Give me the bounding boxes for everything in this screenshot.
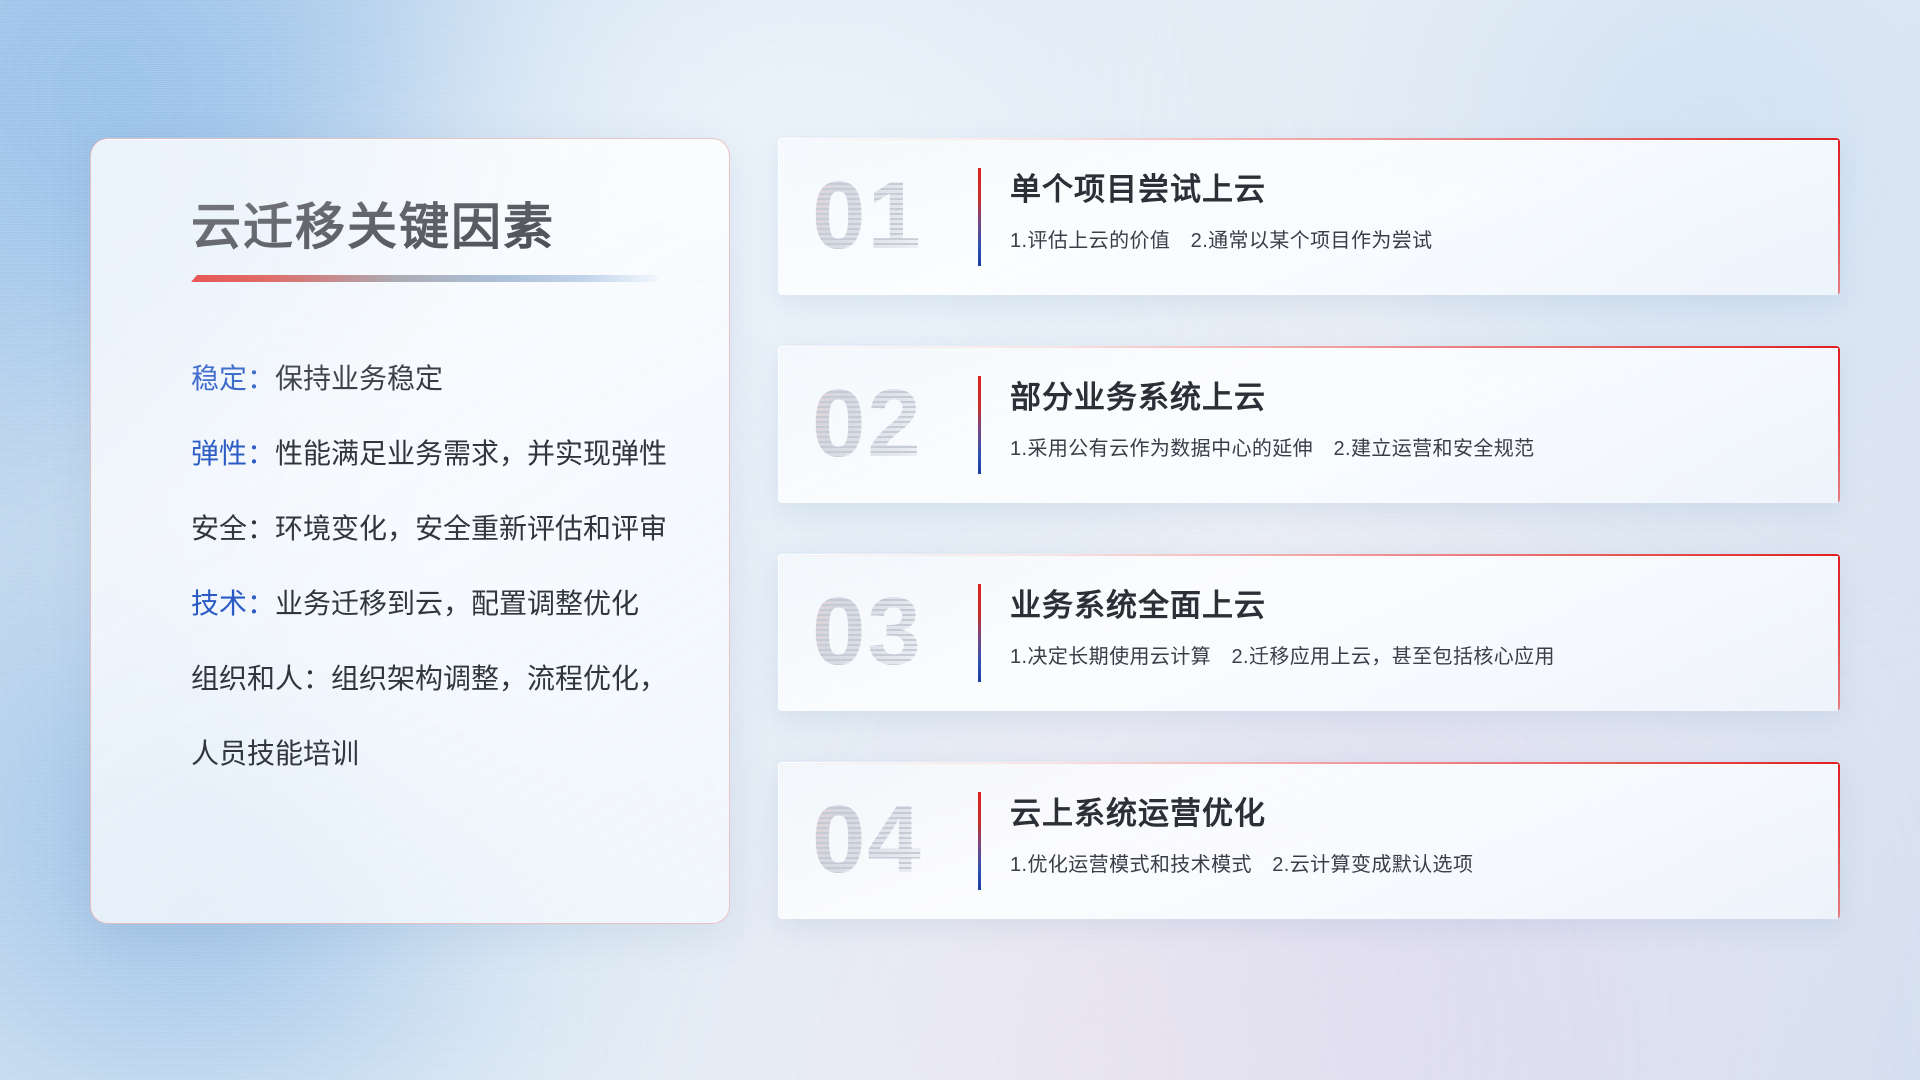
list-item-label: 弹性： bbox=[191, 438, 275, 469]
list-item: 稳定：保持业务稳定 bbox=[191, 361, 691, 397]
stage-number: 04 bbox=[812, 776, 923, 904]
list-item: 安全：环境变化，安全重新评估和评审 bbox=[191, 511, 691, 547]
stage-card-02[interactable]: 02 部分业务系统上云 1.采用公有云作为数据中心的延伸 2.建立运营和安全规范 bbox=[778, 346, 1840, 503]
card-accent-right bbox=[1838, 138, 1840, 295]
list-item-text: 性能满足业务需求，并实现弹性 bbox=[275, 438, 667, 469]
list-item-label: 组织和人： bbox=[191, 663, 331, 694]
stage-divider bbox=[978, 168, 981, 266]
stage-description: 1.优化运营模式和技术模式 2.云计算变成默认选项 bbox=[1010, 848, 1473, 877]
list-item: 人员技能培训 bbox=[191, 736, 691, 772]
card-edge-left bbox=[778, 138, 779, 295]
stage-number: 01 bbox=[812, 152, 923, 280]
list-item-text: 业务迁移到云，配置调整优化 bbox=[275, 588, 639, 619]
stage-description: 1.采用公有云作为数据中心的延伸 2.建立运营和安全规范 bbox=[1010, 432, 1535, 461]
stage-description: 1.决定长期使用云计算 2.迁移应用上云，甚至包括核心应用 bbox=[1010, 640, 1555, 669]
key-factors-list: 稳定：保持业务稳定 弹性：性能满足业务需求，并实现弹性 安全：环境变化，安全重新… bbox=[191, 361, 691, 772]
card-accent-right bbox=[1838, 762, 1840, 919]
stage-card-03[interactable]: 03 业务系统全面上云 1.决定长期使用云计算 2.迁移应用上云，甚至包括核心应… bbox=[778, 554, 1840, 711]
stage-title: 部分业务系统上云 bbox=[1010, 372, 1266, 417]
key-factors-panel: 云迁移关键因素 稳定：保持业务稳定 弹性：性能满足业务需求，并实现弹性 安全：环… bbox=[90, 138, 730, 924]
list-item-text: 保持业务稳定 bbox=[275, 363, 443, 394]
stage-number: 03 bbox=[812, 568, 923, 696]
list-item: 弹性：性能满足业务需求，并实现弹性 bbox=[191, 436, 691, 472]
card-accent-top bbox=[778, 138, 1840, 140]
list-item-text: 环境变化，安全重新评估和评审 bbox=[275, 513, 667, 544]
stage-card-04[interactable]: 04 云上系统运营优化 1.优化运营模式和技术模式 2.云计算变成默认选项 bbox=[778, 762, 1840, 919]
card-accent-right bbox=[1838, 554, 1840, 711]
migration-stages-list: 01 单个项目尝试上云 1.评估上云的价值 2.通常以某个项目作为尝试 02 部… bbox=[778, 138, 1840, 919]
stage-title: 云上系统运营优化 bbox=[1010, 788, 1266, 833]
page-title: 云迁移关键因素 bbox=[191, 187, 555, 259]
card-edge-left bbox=[778, 762, 779, 919]
stage-divider bbox=[978, 376, 981, 474]
stage-divider bbox=[978, 792, 981, 890]
card-edge-left bbox=[778, 346, 779, 503]
stage-number: 02 bbox=[812, 360, 923, 488]
list-item: 组织和人：组织架构调整，流程优化， bbox=[191, 661, 691, 697]
list-item-text: 人员技能培训 bbox=[191, 738, 359, 769]
list-item-label: 稳定： bbox=[191, 363, 275, 394]
list-item-label: 技术： bbox=[191, 588, 275, 619]
stage-card-01[interactable]: 01 单个项目尝试上云 1.评估上云的价值 2.通常以某个项目作为尝试 bbox=[778, 138, 1840, 295]
card-accent-top bbox=[778, 346, 1840, 348]
card-edge-left bbox=[778, 554, 779, 711]
list-item: 技术：业务迁移到云，配置调整优化 bbox=[191, 586, 691, 622]
list-item-label: 安全： bbox=[191, 513, 275, 544]
card-accent-top bbox=[778, 554, 1840, 556]
title-underline-bar bbox=[191, 275, 659, 282]
card-accent-right bbox=[1838, 346, 1840, 503]
list-item-text: 组织架构调整，流程优化， bbox=[331, 663, 667, 694]
stage-divider bbox=[978, 584, 981, 682]
card-accent-top bbox=[778, 762, 1840, 764]
stage-title: 单个项目尝试上云 bbox=[1010, 164, 1266, 209]
stage-title: 业务系统全面上云 bbox=[1010, 580, 1266, 625]
stage-description: 1.评估上云的价值 2.通常以某个项目作为尝试 bbox=[1010, 224, 1433, 253]
slide-stage: 云迁移关键因素 稳定：保持业务稳定 弹性：性能满足业务需求，并实现弹性 安全：环… bbox=[0, 0, 1920, 1080]
